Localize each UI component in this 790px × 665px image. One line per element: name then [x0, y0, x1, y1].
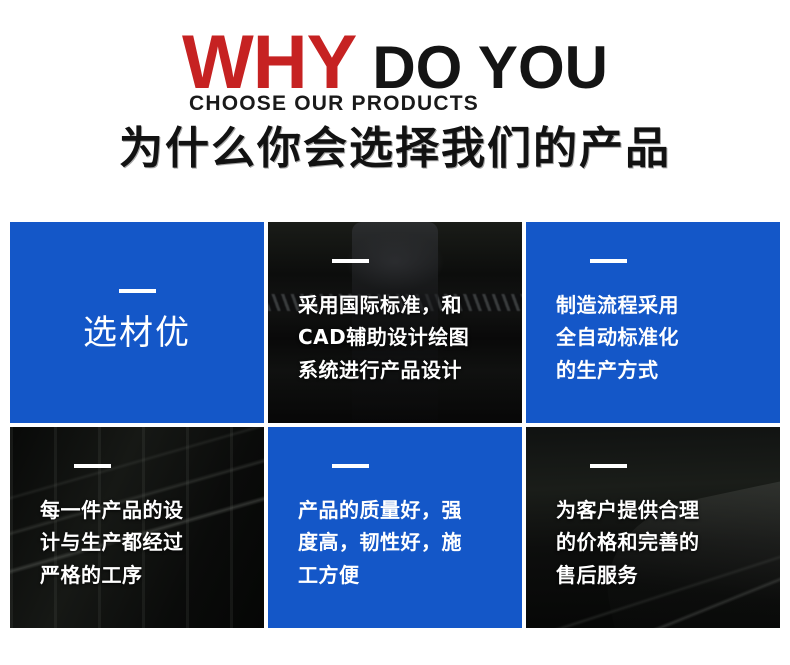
feature-cell-1-text: 选材优 [83, 311, 191, 355]
feature-cell-2-text: 采用国际标准，和 CAD辅助设计绘图 系统进行产品设计 [298, 289, 469, 386]
feature-cell-5-text: 产品的质量好，强 度高，韧性好，施 工方便 [298, 494, 462, 591]
headline-word-doyou: DO YOU [372, 40, 608, 98]
feature-cell-5[interactable]: 产品的质量好，强 度高，韧性好，施 工方便 [268, 427, 522, 628]
divider-dash-icon [590, 259, 627, 263]
divider-dash-icon [74, 464, 111, 468]
feature-cell-2[interactable]: 采用国际标准，和 CAD辅助设计绘图 系统进行产品设计 [268, 222, 522, 423]
promo-banner: WHY DO YOU CHOOSE OUR PRODUCTS 为什么你会选择我们… [0, 0, 790, 665]
divider-dash-icon [332, 259, 369, 263]
feature-grid: 选材优 采用国际标准，和 CAD辅助设计绘图 系统进行产品设计 制造流程采用 全… [10, 222, 780, 628]
feature-cell-1-inner: 选材优 [83, 289, 191, 355]
feature-cell-4[interactable]: 每一件产品的设 计与生产都经过 严格的工序 [10, 427, 264, 628]
headline-subtitle-english: CHOOSE OUR PRODUCTS [0, 92, 790, 116]
banner-header: WHY DO YOU CHOOSE OUR PRODUCTS 为什么你会选择我们… [0, 0, 790, 210]
headline-word-why: WHY [182, 28, 356, 98]
headline-english: WHY DO YOU [0, 18, 790, 98]
feature-cell-2-inner: 采用国际标准，和 CAD辅助设计绘图 系统进行产品设计 [298, 259, 469, 386]
feature-cell-1[interactable]: 选材优 [10, 222, 264, 423]
divider-dash-icon [332, 464, 369, 468]
feature-cell-4-text: 每一件产品的设 计与生产都经过 严格的工序 [40, 494, 184, 591]
feature-cell-3[interactable]: 制造流程采用 全自动标准化 的生产方式 [526, 222, 780, 423]
headline-chinese: 为什么你会选择我们的产品 [0, 124, 790, 173]
feature-cell-6-text: 为客户提供合理 的价格和完善的 售后服务 [556, 494, 700, 591]
feature-cell-6[interactable]: 为客户提供合理 的价格和完善的 售后服务 [526, 427, 780, 628]
divider-dash-icon [119, 289, 156, 293]
feature-cell-5-inner: 产品的质量好，强 度高，韧性好，施 工方便 [298, 464, 462, 591]
feature-cell-4-inner: 每一件产品的设 计与生产都经过 严格的工序 [40, 464, 184, 591]
feature-cell-3-inner: 制造流程采用 全自动标准化 的生产方式 [556, 259, 679, 386]
divider-dash-icon [590, 464, 627, 468]
feature-cell-3-text: 制造流程采用 全自动标准化 的生产方式 [556, 289, 679, 386]
feature-cell-6-inner: 为客户提供合理 的价格和完善的 售后服务 [556, 464, 700, 591]
